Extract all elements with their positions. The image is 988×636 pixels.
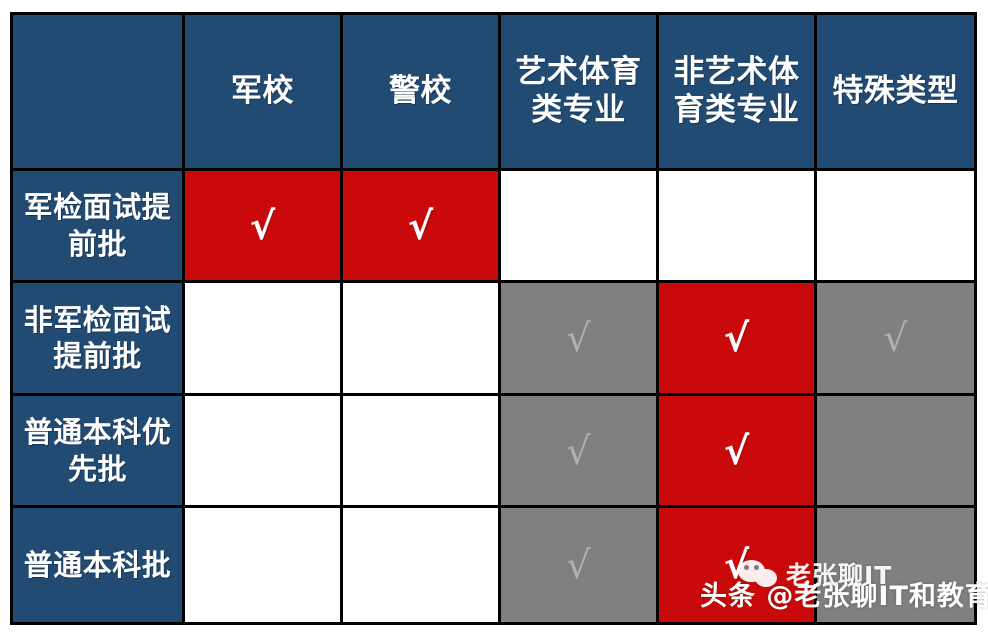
row-header-regular-undergraduate-batch: 普通本科批 <box>12 507 184 624</box>
column-header-special-type: 特殊类型 <box>816 14 976 170</box>
column-header-military-academy: 军校 <box>184 14 342 170</box>
row-header-label: 普通本科批 <box>13 547 182 583</box>
checkmark-icon: √ <box>566 546 590 584</box>
checkmark-icon: √ <box>724 432 749 470</box>
cell-r2-c4 <box>816 394 976 506</box>
table-body: 军检面试提前批 √ √ 非军 <box>12 170 976 624</box>
table-row: 普通本科优先批 √ √ <box>12 394 976 506</box>
cell-r0-c1: √ <box>342 170 500 282</box>
row-header-military-medical-interview-early-batch: 军检面试提前批 <box>12 170 184 282</box>
row-header-label: 非军检面试提前批 <box>13 302 182 375</box>
table-row: 军检面试提前批 √ √ <box>12 170 976 282</box>
cell-r2-c0 <box>184 394 342 506</box>
cell-r1-c0 <box>184 282 342 394</box>
cell-r2-c3: √ <box>658 394 816 506</box>
table-row: 非军检面试提前批 √ √ √ <box>12 282 976 394</box>
row-header-label: 军检面试提前批 <box>13 189 182 262</box>
checkmark-icon: √ <box>566 319 590 357</box>
column-header-label: 艺术体育类专业 <box>501 54 656 130</box>
column-header-label: 非艺术体育类专业 <box>659 54 814 130</box>
cell-r3-c3: √ <box>658 507 816 624</box>
cell-r2-c1 <box>342 394 500 506</box>
checkmark-icon: √ <box>566 432 590 470</box>
row-header-non-military-medical-interview-early-batch: 非军检面试提前批 <box>12 282 184 394</box>
column-header-police-academy: 警校 <box>342 14 500 170</box>
column-header-label: 军校 <box>185 73 340 111</box>
column-header-non-arts-sports-major: 非艺术体育类专业 <box>658 14 816 170</box>
cell-r0-c0: √ <box>184 170 342 282</box>
batch-eligibility-matrix-figure: 军校 警校 艺术体育类专业 非艺术体育类专业 特殊类型 军检面试提前 <box>0 0 988 636</box>
checkmark-icon: √ <box>724 319 749 357</box>
checkmark-icon: √ <box>408 207 433 245</box>
checkmark-icon: √ <box>724 546 749 584</box>
header-row: 军校 警校 艺术体育类专业 非艺术体育类专业 特殊类型 <box>12 14 976 170</box>
cell-r1-c2: √ <box>500 282 658 394</box>
cell-r3-c0 <box>184 507 342 624</box>
cell-r1-c1 <box>342 282 500 394</box>
cell-r3-c1 <box>342 507 500 624</box>
cell-r1-c3: √ <box>658 282 816 394</box>
batch-eligibility-table: 军校 警校 艺术体育类专业 非艺术体育类专业 特殊类型 军检面试提前 <box>10 12 977 625</box>
table-row: 普通本科批 √ √ <box>12 507 976 624</box>
cell-r0-c4 <box>816 170 976 282</box>
cell-r0-c2 <box>500 170 658 282</box>
checkmark-icon: √ <box>250 207 275 245</box>
cell-r2-c2: √ <box>500 394 658 506</box>
cell-r0-c3 <box>658 170 816 282</box>
row-header-label: 普通本科优先批 <box>13 414 182 487</box>
cell-r3-c4 <box>816 507 976 624</box>
table-header: 军校 警校 艺术体育类专业 非艺术体育类专业 特殊类型 <box>12 14 976 170</box>
checkmark-icon: √ <box>883 319 907 357</box>
column-header-arts-sports-major: 艺术体育类专业 <box>500 14 658 170</box>
column-header-label: 特殊类型 <box>817 73 974 111</box>
column-header-label: 警校 <box>343 73 498 111</box>
cell-r1-c4: √ <box>816 282 976 394</box>
row-header-regular-undergraduate-priority-batch: 普通本科优先批 <box>12 394 184 506</box>
cell-r3-c2: √ <box>500 507 658 624</box>
table-corner-cell <box>12 14 184 170</box>
